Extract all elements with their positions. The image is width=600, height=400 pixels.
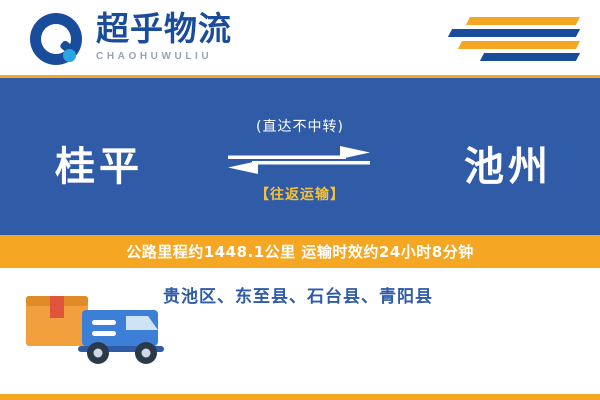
origin-city: 桂平 [55,134,143,192]
brand-name-cn: 超乎物流 [96,10,232,48]
circle-arrow-logo-icon [30,13,82,65]
arrow-left-icon [228,161,370,174]
arrow-right-icon [228,146,370,159]
route-band: 桂平 (直达不中转) 【往返运输】 池州 [0,75,600,238]
brand-text: 超乎物流 CHAOHUWULIU [96,10,232,62]
roundtrip-label: 【往返运输】 [220,184,380,204]
direct-label: (直达不中转) [220,116,380,136]
route-middle: (直达不中转) 【往返运输】 [220,116,380,204]
route-arrows [220,144,380,178]
distance-duration-text: 公路里程约1448.1公里 运输时效约24小时8分钟 [126,241,473,262]
speed-line-2 [448,29,580,37]
speed-line-3 [458,41,580,49]
coverage-areas-text: 贵池区、东至县、石台县、青阳县 [163,282,433,307]
logistics-route-poster: 超乎物流 CHAOHUWULIU 桂平 (直达不中转) [0,0,600,400]
delivery-truck-icon [22,280,172,370]
speed-line-1 [466,17,580,25]
speed-lines-icon [448,17,578,61]
logo-dot [63,49,76,62]
distance-duration-bar: 公路里程约1448.1公里 运输时效约24小时8分钟 [0,235,600,268]
destination-city: 池州 [464,134,552,192]
header: 超乎物流 CHAOHUWULIU [0,0,600,75]
brand-name-en: CHAOHUWULIU [96,51,232,62]
speed-line-4 [480,53,580,61]
coverage-section: 贵池区、东至县、石台县、青阳县 [0,268,600,400]
bottom-accent-rule [0,394,600,400]
